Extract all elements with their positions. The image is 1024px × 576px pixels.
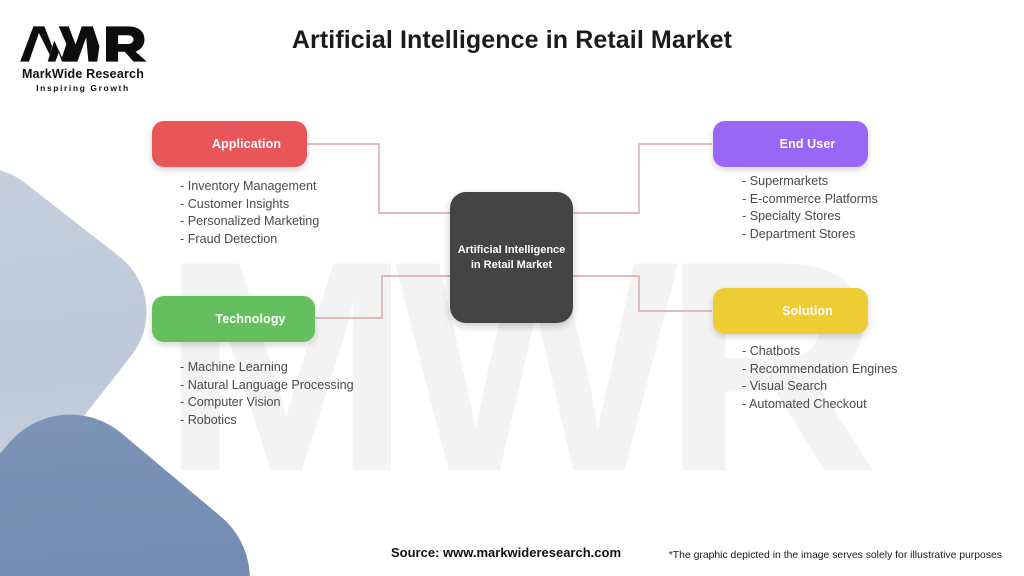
branch-node-application[interactable]: Application [152,121,307,167]
list-item: - Recommendation Engines [742,361,897,379]
list-item: - Personalized Marketing [180,213,319,231]
center-node: Artificial Intelligence in Retail Market [450,192,573,323]
list-item: - Chatbots [742,343,897,361]
branch-items-solution: - Chatbots - Recommendation Engines - Vi… [742,343,897,413]
list-item: - Robotics [180,412,354,430]
center-node-line1: Artificial Intelligence [458,244,566,256]
source-text: Source: www.markwideresearch.com [391,545,621,560]
list-item: - Computer Vision [180,394,354,412]
list-item: - Department Stores [742,226,878,244]
list-item: - E-commerce Platforms [742,191,878,209]
list-item: - Specialty Stores [742,208,878,226]
list-item: - Customer Insights [180,196,319,214]
disclaimer-text: *The graphic depicted in the image serve… [669,550,1002,561]
list-item: - Inventory Management [180,178,319,196]
list-item: - Natural Language Processing [180,377,354,395]
branch-items-application: - Inventory Management - Customer Insigh… [180,178,319,248]
branch-node-end-user[interactable]: End User [713,121,868,167]
branch-items-end-user: - Supermarkets - E-commerce Platforms - … [742,173,878,243]
list-item: - Machine Learning [180,359,354,377]
branch-label-solution: Solution [782,304,833,318]
branch-node-technology[interactable]: Technology [152,296,315,342]
list-item: - Supermarkets [742,173,878,191]
list-item: - Visual Search [742,378,897,396]
infographic-canvas: MWR MarkWide Research Inspiring Growth A… [0,0,1024,576]
list-item: - Fraud Detection [180,231,319,249]
list-item: - Automated Checkout [742,396,897,414]
branch-node-solution[interactable]: Solution [713,288,868,334]
branch-label-technology: Technology [215,312,285,326]
center-node-line2: in Retail Market [471,259,552,271]
branch-label-application: Application [212,137,281,151]
center-node-label: Artificial Intelligence in Retail Market [452,243,572,273]
branch-label-end-user: End User [780,137,836,151]
branch-items-technology: - Machine Learning - Natural Language Pr… [180,359,354,429]
